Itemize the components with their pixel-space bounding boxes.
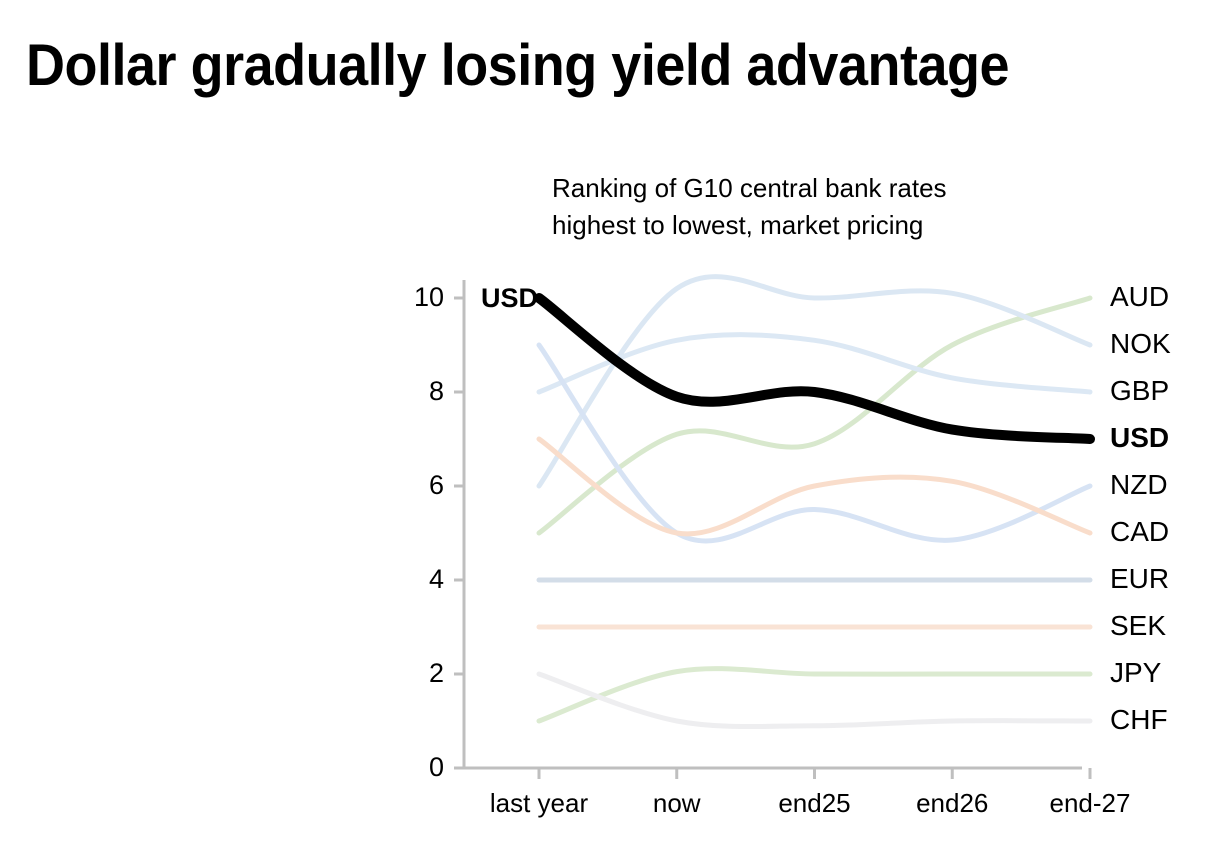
series-line-chf	[539, 674, 1090, 727]
series-line-cad	[539, 439, 1090, 534]
y-axis-tick-label: 2	[398, 660, 444, 687]
series-label-jpy: JPY	[1110, 659, 1161, 687]
series-label-nzd: NZD	[1110, 471, 1168, 499]
series-label-sek: SEK	[1110, 612, 1166, 640]
y-axis-tick-label: 10	[398, 284, 444, 311]
series-label-aud: AUD	[1110, 283, 1169, 311]
y-axis-tick-label: 4	[398, 566, 444, 593]
series-label-chf: CHF	[1110, 706, 1168, 734]
y-axis-tick-label: 8	[398, 378, 444, 405]
series-label-gbp: GBP	[1110, 377, 1169, 405]
inline-series-label-usd: USD	[481, 285, 538, 312]
x-axis-tick-label: end-27	[995, 790, 1185, 816]
chart-series-layer	[539, 277, 1090, 727]
series-label-eur: EUR	[1110, 565, 1169, 593]
series-label-cad: CAD	[1110, 518, 1169, 546]
series-line-jpy	[539, 669, 1090, 721]
line-chart: 0246810 last yearnowend25end26end-27 AUD…	[0, 0, 1211, 851]
y-axis-tick-label: 6	[398, 472, 444, 499]
series-label-usd: USD	[1110, 424, 1169, 452]
y-axis-tick-label: 0	[398, 754, 444, 781]
series-line-nok	[539, 277, 1090, 486]
slide-canvas: Dollar gradually losing yield advantage …	[0, 0, 1211, 851]
series-label-nok: NOK	[1110, 330, 1171, 358]
series-line-usd	[539, 298, 1090, 439]
chart-plot-svg	[0, 0, 1211, 851]
